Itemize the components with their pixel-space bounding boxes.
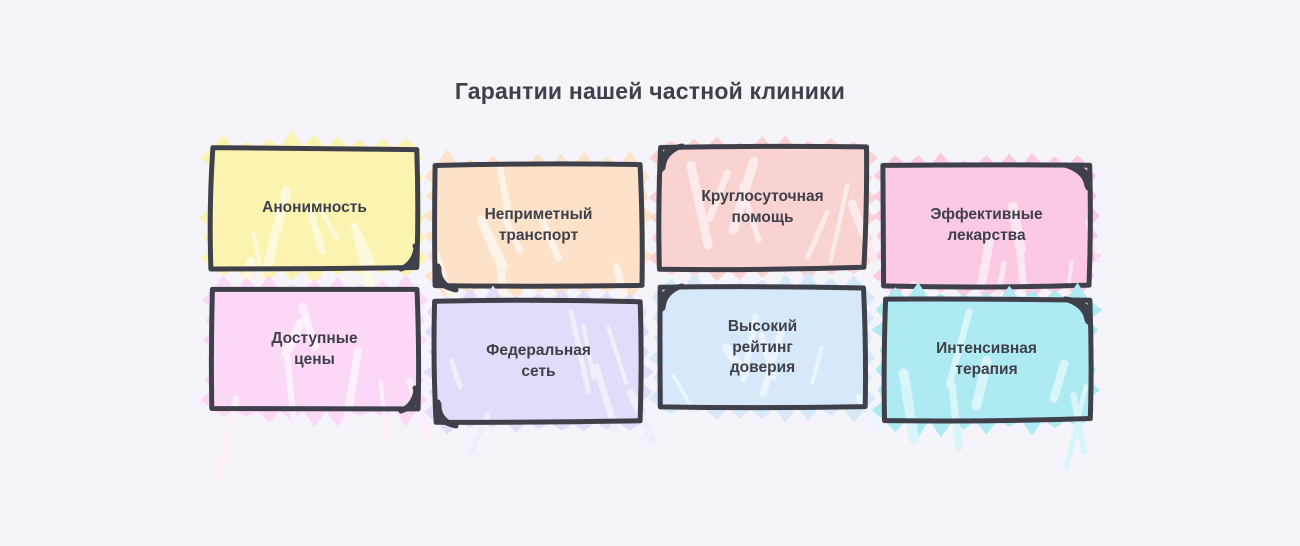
card-label-high-trust-rating: Высокий рейтинг доверия: [668, 288, 857, 408]
card-label-anonymity: Анонимность: [220, 148, 409, 268]
page-title: Гарантии нашей частной клиники: [0, 78, 1300, 105]
guarantee-card-affordable-prices[interactable]: Доступные цены: [212, 290, 417, 410]
card-label-round-the-clock-help: Круглосуточная помощь: [668, 148, 857, 268]
guarantee-card-high-trust-rating[interactable]: Высокий рейтинг доверия: [660, 288, 865, 408]
guarantee-card-discreet-transport[interactable]: Неприметный транспорт: [436, 166, 641, 286]
card-label-intensive-therapy: Интенсивная терапия: [892, 300, 1081, 420]
guarantee-card-effective-medicines[interactable]: Эффективные лекарства: [884, 166, 1089, 286]
guarantee-card-intensive-therapy[interactable]: Интенсивная терапия: [884, 300, 1089, 420]
infographic-root: Гарантии нашей частной клиники Анонимнос…: [0, 0, 1300, 546]
card-label-effective-medicines: Эффективные лекарства: [892, 166, 1081, 286]
card-label-affordable-prices: Доступные цены: [220, 290, 409, 410]
guarantee-card-anonymity[interactable]: Анонимность: [212, 148, 417, 268]
card-label-federal-network: Федеральная сеть: [444, 302, 633, 422]
guarantee-card-federal-network[interactable]: Федеральная сеть: [436, 302, 641, 422]
card-label-discreet-transport: Неприметный транспорт: [444, 166, 633, 286]
guarantee-card-round-the-clock-help[interactable]: Круглосуточная помощь: [660, 148, 865, 268]
guarantee-card-grid: АнонимностьНеприметный транспортКруглосу…: [200, 130, 1100, 430]
